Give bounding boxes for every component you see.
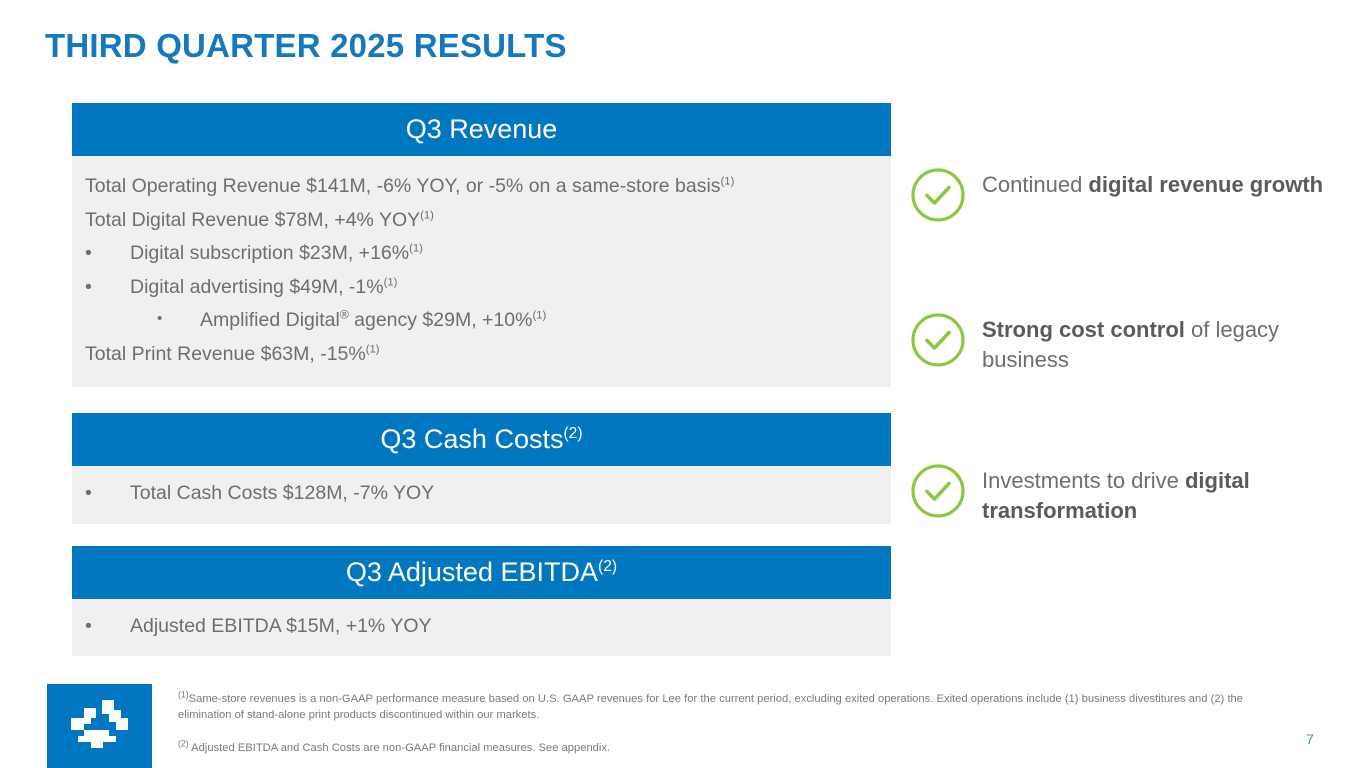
metric-text-wrap: Total Cash Costs $128M, -7% YOY xyxy=(130,484,434,504)
footnote-marker: (1) xyxy=(409,243,423,255)
footnote-item: (1)Same-store revenues is a non-GAAP per… xyxy=(178,692,1243,724)
check-circle-icon xyxy=(908,165,968,225)
footnote-marker: (1) xyxy=(366,343,380,355)
bullet-icon: • xyxy=(85,311,200,326)
footnote-marker: (1) xyxy=(721,176,735,188)
metric-line: Total Print Revenue $63M, -15%(1) xyxy=(72,338,891,372)
highlight-text-bold: Strong cost control xyxy=(982,317,1185,342)
highlight-text: Strong cost control of legacy business xyxy=(982,310,1328,376)
highlights-column: Continued digital revenue growth Strong … xyxy=(908,165,1328,526)
highlight-text-pre: Investments to drive xyxy=(982,468,1185,493)
panel-body-q3-revenue: Total Operating Revenue $141M, -6% YOY, … xyxy=(72,156,891,387)
metric-line: • Amplified Digital® agency $29M, +10%(1… xyxy=(72,304,891,338)
panel-q3-adjusted-ebitda: Q3 Adjusted EBITDA(2) • Adjusted EBITDA … xyxy=(72,546,891,657)
panel-header-footnote-marker: (2) xyxy=(563,425,582,442)
bullet-icon: • xyxy=(85,617,130,637)
metric-line: Total Digital Revenue $78M, +4% YOY(1) xyxy=(72,204,891,238)
highlight-text: Continued digital revenue growth xyxy=(982,165,1328,200)
metric-line: • Digital subscription $23M, +16%(1) xyxy=(72,237,891,271)
footnote-marker: (2) xyxy=(178,738,189,748)
bullet-icon: • xyxy=(85,278,130,298)
panel-body-q3-adjusted-ebitda: • Adjusted EBITDA $15M, +1% YOY xyxy=(72,599,891,657)
bullet-icon: • xyxy=(85,484,130,504)
panel-header-label: Q3 Adjusted EBITDA xyxy=(346,557,598,587)
page-number: 7 xyxy=(1306,731,1314,747)
metric-text: Total Print Revenue $63M, -15% xyxy=(85,343,366,365)
footnote-text: Same-store revenues is a non-GAAP perfor… xyxy=(178,693,1243,721)
page-title: THIRD QUARTER 2025 RESULTS xyxy=(45,27,567,65)
metric-text-cont: agency $29M, +10% xyxy=(349,309,533,331)
footnote-marker: (1) xyxy=(178,689,189,699)
footnote-marker: (1) xyxy=(420,209,434,221)
metric-text-wrap: Digital advertising $49M, -1%(1) xyxy=(130,278,397,298)
panel-body-q3-cash-costs: • Total Cash Costs $128M, -7% YOY xyxy=(72,466,891,524)
metric-text: Total Operating Revenue $141M, -6% YOY, … xyxy=(85,175,721,197)
highlight-text: Investments to drive digital transformat… xyxy=(982,461,1328,527)
metric-text-wrap: Digital subscription $23M, +16%(1) xyxy=(130,244,423,264)
metric-text: Adjusted EBITDA $15M, +1% YOY xyxy=(130,615,432,637)
panel-header-label: Q3 Revenue xyxy=(406,114,558,144)
footnote-marker: (1) xyxy=(532,310,546,322)
footnote-item: (2) Adjusted EBITDA and Cash Costs are n… xyxy=(178,741,1243,757)
metric-text: Digital advertising $49M, -1% xyxy=(130,276,384,298)
panel-q3-revenue: Q3 Revenue Total Operating Revenue $141M… xyxy=(72,103,891,387)
slide-root: THIRD QUARTER 2025 RESULTS Q3 Revenue To… xyxy=(0,0,1365,768)
metric-line: • Digital advertising $49M, -1%(1) xyxy=(72,271,891,305)
metric-line: • Adjusted EBITDA $15M, +1% YOY xyxy=(72,610,891,644)
metric-text: Total Digital Revenue $78M, +4% YOY xyxy=(85,209,420,231)
panel-q3-cash-costs: Q3 Cash Costs(2) • Total Cash Costs $128… xyxy=(72,413,891,524)
highlight-text-pre: Continued xyxy=(982,172,1088,197)
footnotes: (1)Same-store revenues is a non-GAAP per… xyxy=(178,692,1243,757)
bullet-icon: • xyxy=(85,244,130,264)
panel-header-footnote-marker: (2) xyxy=(598,558,617,575)
highlight-item: Investments to drive digital transformat… xyxy=(908,461,1328,527)
metric-line: Total Operating Revenue $141M, -6% YOY, … xyxy=(72,170,891,204)
footnote-marker: (1) xyxy=(384,276,398,288)
lee-enterprises-logo xyxy=(47,684,152,768)
metric-text: Digital subscription $23M, +16% xyxy=(130,242,409,264)
metric-text-wrap: Amplified Digital® agency $29M, +10%(1) xyxy=(200,311,546,331)
footnote-text: Adjusted EBITDA and Cash Costs are non-G… xyxy=(191,742,610,754)
metric-text: Amplified Digital xyxy=(200,309,340,331)
metric-line: • Total Cash Costs $128M, -7% YOY xyxy=(72,477,891,511)
check-circle-icon xyxy=(908,461,968,521)
panel-header-q3-adjusted-ebitda: Q3 Adjusted EBITDA(2) xyxy=(72,546,891,599)
registered-trademark-icon: ® xyxy=(340,308,349,322)
panel-header-q3-cash-costs: Q3 Cash Costs(2) xyxy=(72,413,891,466)
panel-spacer xyxy=(72,524,891,546)
panel-header-label: Q3 Cash Costs xyxy=(380,424,563,454)
highlight-text-bold: digital revenue growth xyxy=(1088,172,1323,197)
metric-text-wrap: Adjusted EBITDA $15M, +1% YOY xyxy=(130,617,432,637)
metrics-column: Q3 Revenue Total Operating Revenue $141M… xyxy=(72,103,891,656)
metric-text: Total Cash Costs $128M, -7% YOY xyxy=(130,482,434,504)
highlight-item: Strong cost control of legacy business xyxy=(908,310,1328,376)
check-circle-icon xyxy=(908,310,968,370)
highlight-item: Continued digital revenue growth xyxy=(908,165,1328,225)
panel-spacer xyxy=(72,387,891,413)
panel-header-q3-revenue: Q3 Revenue xyxy=(72,103,891,156)
